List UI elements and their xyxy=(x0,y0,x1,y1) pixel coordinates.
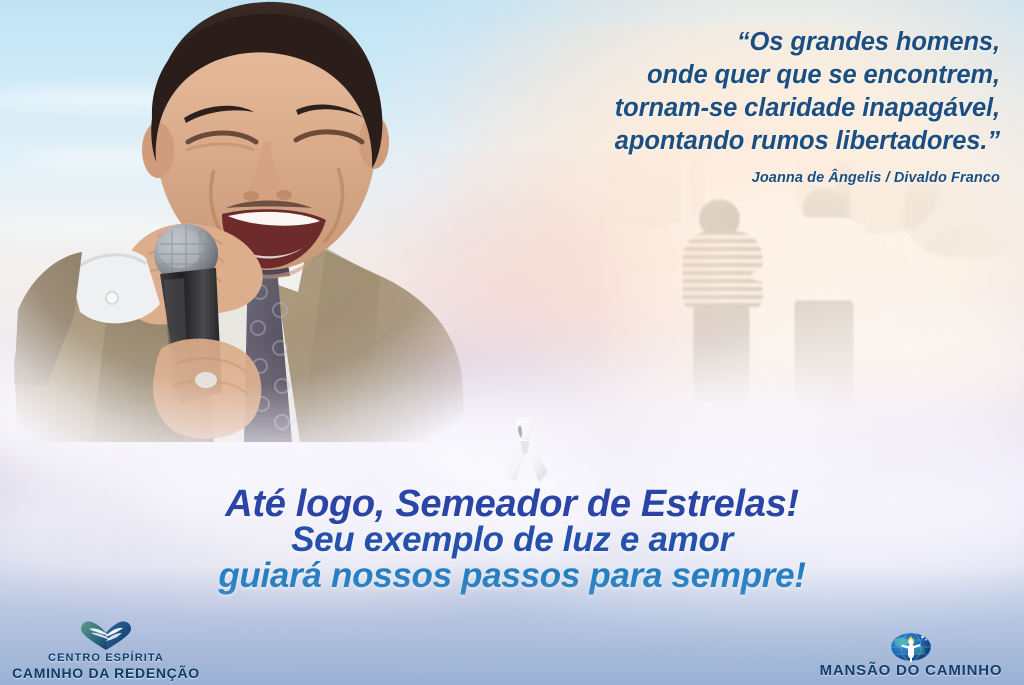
quote-line-3: tornam-se claridade inapagável, xyxy=(340,92,1000,125)
headline-message: Até logo, Semeador de Estrelas! Seu exem… xyxy=(0,486,1024,594)
logo-line-1: CENTRO ESPÍRITA xyxy=(6,652,206,665)
memorial-poster: “Os grandes homens, onde quer que se enc… xyxy=(0,0,1024,685)
headline-line-2: Seu exemplo de luz e amor xyxy=(0,522,1024,558)
headline-line-3: guiará nossos passos para sempre! xyxy=(0,558,1024,594)
walking-figure-striped-shirt xyxy=(682,199,763,399)
logo-mansao-do-caminho: MANSÃO DO CAMINHO xyxy=(806,628,1016,679)
quote-attribution: Joanna de Ângelis / Divaldo Franco xyxy=(340,170,1000,186)
fern-shrub xyxy=(921,226,1015,296)
logo-centro-espirita: CENTRO ESPÍRITA CAMINHO DA REDENÇÃO xyxy=(6,620,206,681)
figure-torso xyxy=(682,231,763,311)
quote-line-1: “Os grandes homens, xyxy=(340,26,1000,59)
globe-figure-torch-logo-icon xyxy=(887,628,935,662)
fern-shrub xyxy=(605,220,682,290)
white-mourning-ribbon-icon xyxy=(487,412,563,488)
walking-figure-white-shirt xyxy=(780,188,870,404)
quote-line-2: onde quer que se encontrem, xyxy=(340,59,1000,92)
quote-line-4: apontando rumos libertadores.” xyxy=(340,125,1000,158)
figure-legs xyxy=(693,306,750,402)
logo-line-2: CAMINHO DA REDENÇÃO xyxy=(6,665,206,681)
figure-legs xyxy=(794,300,853,408)
headline-line-1: Até logo, Semeador de Estrelas! xyxy=(0,486,1024,522)
logo-line-1: MANSÃO DO CAMINHO xyxy=(806,662,1016,679)
heart-hands-logo-icon xyxy=(79,620,133,652)
ghost-photo xyxy=(596,150,1024,420)
figure-torso xyxy=(780,218,870,304)
quote-text: “Os grandes homens, onde quer que se enc… xyxy=(340,26,1000,158)
